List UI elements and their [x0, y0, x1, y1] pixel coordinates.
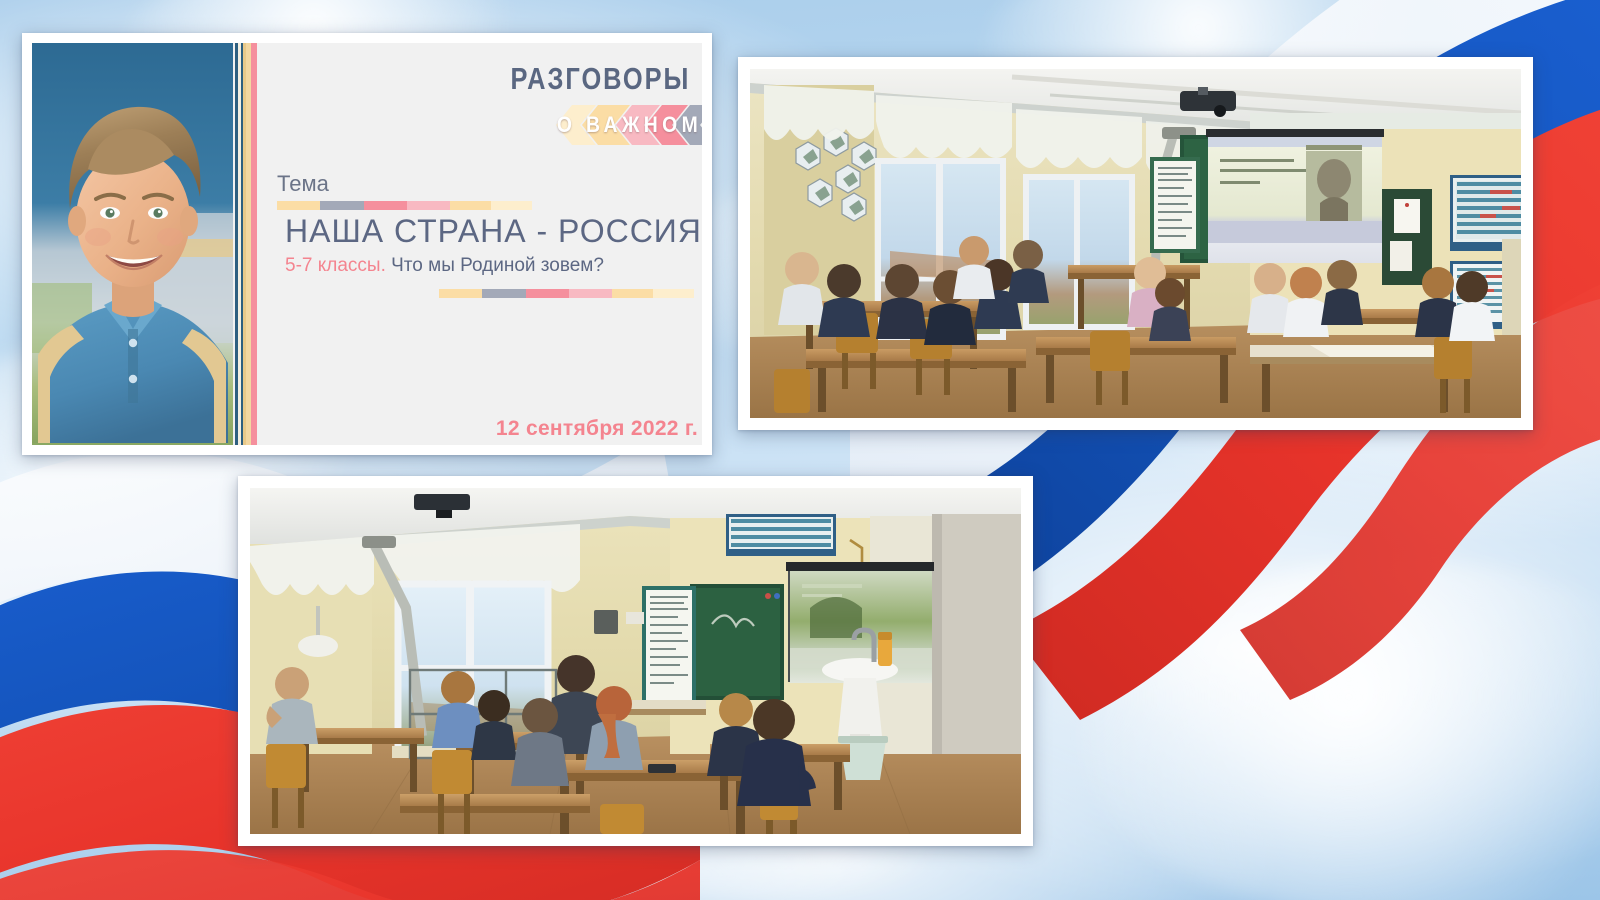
divider-segment: [569, 289, 612, 298]
slide-date: 12 сентября 2022 г.: [496, 417, 698, 441]
divider-segment: [439, 289, 482, 298]
slide-title: НАША СТРАНА - РОССИЯ: [285, 213, 702, 250]
classroom-illustration-2: [250, 488, 1021, 834]
schoolboy-photo: [32, 43, 233, 445]
presentation-slide-card[interactable]: РАЗГОВОРЫ О ВАЖНОМ Тема НАША СТРАНА - РО…: [22, 33, 712, 455]
divider-segment: [407, 201, 450, 210]
slide-subtitle-grade: 5-7 классы.: [285, 255, 386, 276]
slide-side-stripes: [233, 43, 259, 445]
brand-title-line2: О ВАЖНОМ: [557, 105, 702, 145]
schoolboy-illustration: [32, 43, 233, 443]
divider-segment: [364, 201, 407, 210]
slide-body: РАЗГОВОРЫ О ВАЖНОМ Тема НАША СТРАНА - РО…: [259, 43, 702, 445]
classroom-illustration-1: [750, 69, 1521, 418]
divider-bar-top: [277, 201, 532, 210]
divider-segment: [320, 201, 363, 210]
divider-segment: [277, 201, 320, 210]
divider-segment: [491, 201, 532, 210]
classroom-photo-1: [750, 69, 1521, 418]
divider-segment: [526, 289, 569, 298]
slide-subtitle: 5-7 классы. Что мы Родиной зовем?: [285, 255, 604, 277]
divider-segment: [450, 201, 491, 210]
divider-bar-bottom: [439, 289, 694, 298]
divider-segment: [612, 289, 653, 298]
classroom-photo-2: [250, 488, 1021, 834]
classroom-photo-card-1[interactable]: [738, 57, 1533, 430]
slide-inner: РАЗГОВОРЫ О ВАЖНОМ Тема НАША СТРАНА - РО…: [32, 43, 702, 445]
classroom-photo-card-2[interactable]: [238, 476, 1033, 846]
divider-segment: [653, 289, 694, 298]
slide-subtitle-question: Что мы Родиной зовем?: [391, 255, 604, 276]
brand-chevron-band: О ВАЖНОМ: [556, 105, 702, 145]
brand-title-line1: РАЗГОВОРЫ: [510, 61, 690, 97]
divider-segment: [482, 289, 525, 298]
tema-label: Тема: [277, 171, 329, 197]
